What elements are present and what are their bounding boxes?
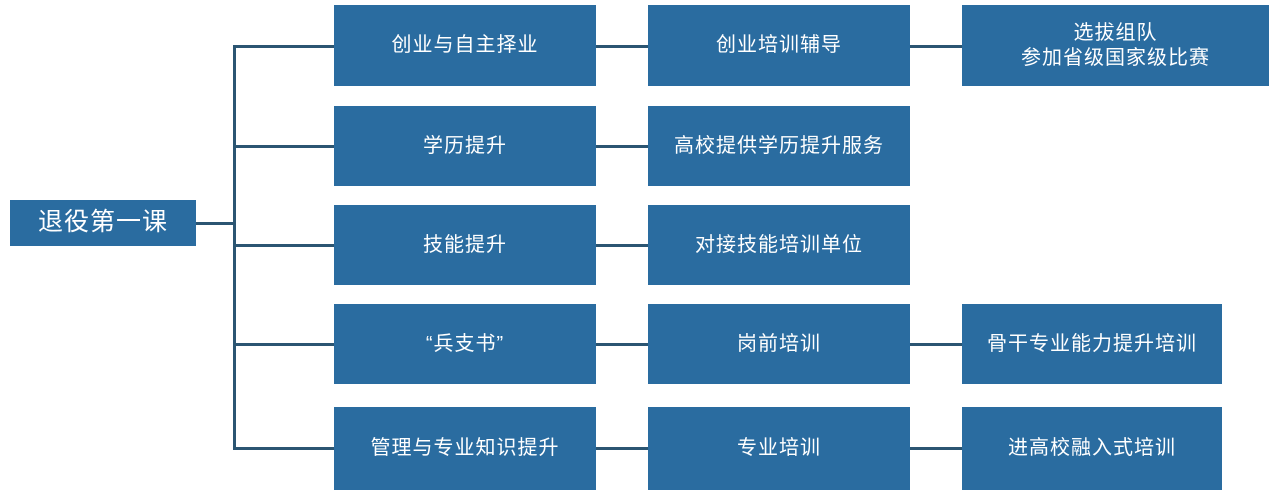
root-node-label: 退役第一课	[38, 207, 168, 238]
connector-row-1-level2-to-level3	[910, 45, 962, 48]
node-level3-row-5[interactable]: 进高校融入式培训	[962, 407, 1222, 490]
node-label: 管理与专业知识提升	[371, 436, 560, 461]
connector-root-to-trunk	[196, 222, 236, 225]
node-level2-row-1[interactable]: 创业培训辅导	[648, 5, 910, 86]
node-label: 骨干专业能力提升培训	[987, 332, 1197, 357]
node-label: 专业培训	[737, 436, 821, 461]
connector-row-4-level1-to-level2	[596, 343, 648, 346]
node-label: 进高校融入式培训	[1008, 436, 1176, 461]
root-node[interactable]: 退役第一课	[10, 200, 196, 246]
node-label-line-2: 参加省级国家级比赛	[1021, 46, 1210, 71]
node-label: 对接技能培训单位	[695, 233, 863, 258]
node-label: 技能提升	[423, 233, 507, 258]
node-level2-row-4[interactable]: 岗前培训	[648, 304, 910, 384]
node-label: “兵支书”	[426, 332, 504, 357]
node-level1-row-3[interactable]: 技能提升	[334, 205, 596, 285]
node-level1-row-2[interactable]: 学历提升	[334, 106, 596, 186]
connector-row-4-level2-to-level3	[910, 343, 962, 346]
node-level1-row-1[interactable]: 创业与自主择业	[334, 5, 596, 86]
node-label: 创业与自主择业	[392, 33, 539, 58]
node-level1-row-5[interactable]: 管理与专业知识提升	[334, 407, 596, 490]
node-level2-row-3[interactable]: 对接技能培训单位	[648, 205, 910, 285]
node-label: 岗前培训	[737, 332, 821, 357]
node-level2-row-5[interactable]: 专业培训	[648, 407, 910, 490]
node-label-line-1: 选拔组队	[1074, 21, 1158, 46]
connector-branch-row-2	[233, 145, 334, 148]
connector-branch-row-3	[233, 244, 334, 247]
node-level3-row-4[interactable]: 骨干专业能力提升培训	[962, 304, 1222, 384]
connector-row-2-level1-to-level2	[596, 145, 648, 148]
connector-trunk	[233, 45, 236, 449]
node-label: 创业培训辅导	[716, 33, 842, 58]
org-chart-diagram: 退役第一课 创业与自主择业 创业培训辅导 选拔组队 参加省级国家级比赛 学历提升…	[0, 0, 1269, 497]
node-level1-row-4[interactable]: “兵支书”	[334, 304, 596, 384]
connector-branch-row-1	[233, 45, 334, 48]
node-label: 学历提升	[423, 134, 507, 159]
connector-row-3-level1-to-level2	[596, 244, 648, 247]
node-label: 高校提供学历提升服务	[674, 134, 884, 159]
connector-branch-row-5	[233, 447, 334, 450]
connector-branch-row-4	[233, 343, 334, 346]
connector-row-5-level2-to-level3	[910, 447, 962, 450]
connector-row-1-level1-to-level2	[596, 45, 648, 48]
node-level3-row-1[interactable]: 选拔组队 参加省级国家级比赛	[962, 5, 1269, 86]
connector-row-5-level1-to-level2	[596, 447, 648, 450]
node-level2-row-2[interactable]: 高校提供学历提升服务	[648, 106, 910, 186]
